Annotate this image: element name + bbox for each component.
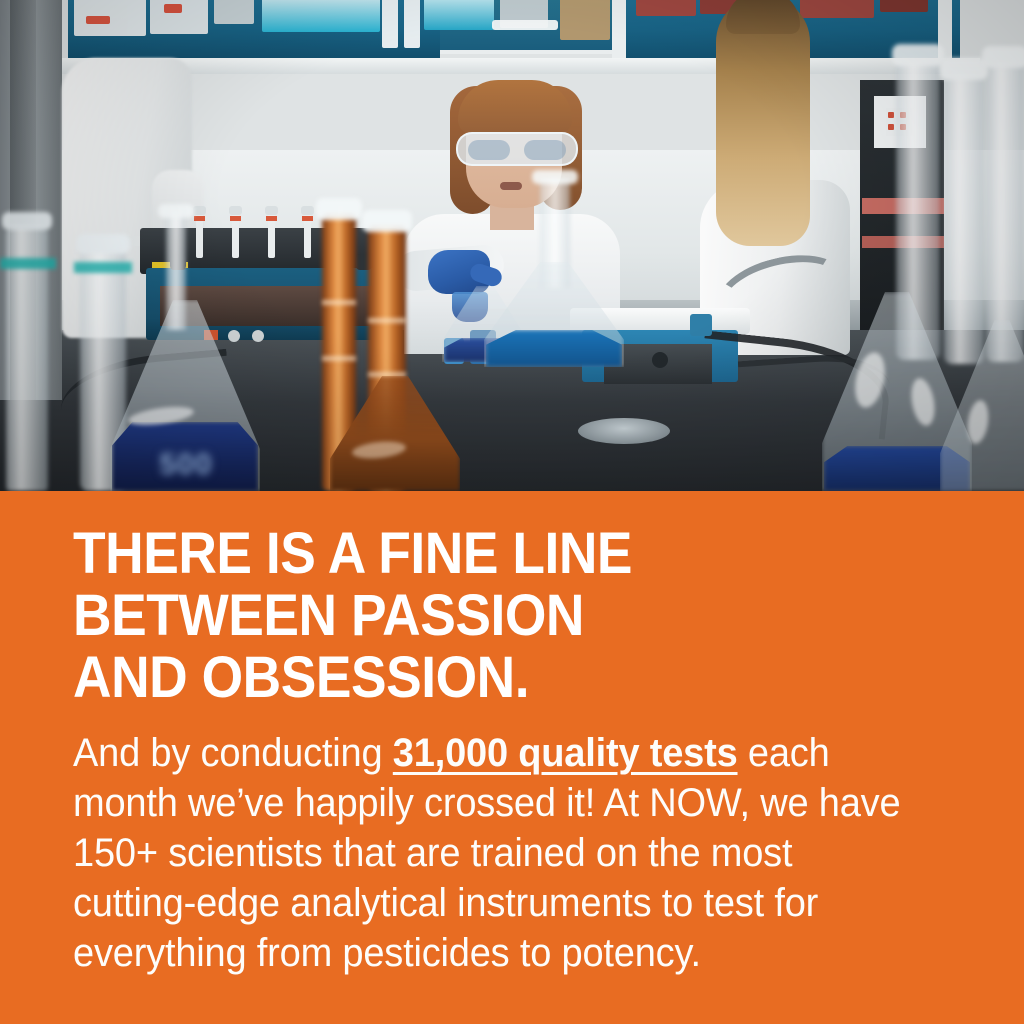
shelf-bottle-1 (382, 0, 398, 48)
amber-cylinder-2-cap (362, 210, 412, 232)
right-cylinder-3 (986, 62, 1024, 362)
promo-poster: 500 THERE IS A FINE LINE (0, 0, 1024, 1024)
cabinet-divider-left (612, 0, 626, 64)
shelf-crate-4 (880, 0, 928, 12)
shelf-crate-1 (636, 0, 696, 16)
scientist-right-hair (716, 0, 810, 246)
petri-dish (578, 418, 670, 444)
pipette-4 (304, 212, 311, 258)
headline-line-1: THERE IS A FINE LINE (73, 523, 901, 585)
scientist-center-mouth (500, 182, 522, 190)
amber-cylinder-1-cap (316, 198, 362, 220)
graduated-cylinder-1-band (0, 258, 56, 269)
body-copy-part-1: And by conducting (73, 731, 393, 775)
headline-line-2: BETWEEN PASSION (73, 585, 901, 647)
graduated-cylinder-2-cap (76, 234, 130, 254)
shelf-plate (492, 20, 558, 30)
instrument-knob-2 (252, 330, 264, 342)
body-copy-highlight: 31,000 quality tests (393, 731, 738, 775)
balance-knob (652, 352, 668, 368)
graduated-cylinder-2-band (74, 262, 132, 273)
right-cylinder-2-cap (940, 58, 988, 80)
right-cylinder-3-cap (982, 46, 1024, 68)
reagent-bottle-3 (690, 314, 712, 336)
erlenmeyer-liquid-blue (486, 330, 622, 367)
shelf-cardboard-box (560, 0, 610, 40)
safety-goggles-icon (456, 132, 578, 166)
erlenmeyer-lip (532, 170, 578, 184)
pipette-2 (232, 212, 239, 258)
scientist-center-hair-top (458, 80, 572, 134)
lab-photo: 500 (0, 0, 1024, 491)
shelf-box-1 (74, 0, 146, 36)
instrument-knob-1 (228, 330, 240, 342)
amber-graduation-1 (322, 300, 356, 305)
flask-500-lip (158, 204, 194, 218)
body-copy: And by conducting 31,000 quality tests e… (73, 728, 909, 978)
shelf-crate-3 (800, 0, 874, 18)
shelf-box-2 (150, 0, 208, 34)
scientist-right-hair-top (726, 0, 800, 34)
outlet-indicator-1 (888, 112, 894, 118)
shelf-reagent-tray (262, 0, 380, 32)
graduated-cylinder-1-cap (2, 212, 52, 230)
outlet-indicator-3 (888, 124, 894, 130)
amber-graduation-3 (322, 356, 356, 361)
orange-message-panel: THERE IS A FINE LINE BETWEEN PASSION AND… (0, 491, 1024, 1024)
shelf-reagent-tray-2 (424, 0, 494, 30)
pipette-3 (268, 212, 275, 258)
shelf-box-3 (214, 0, 254, 24)
headline: THERE IS A FINE LINE BETWEEN PASSION AND… (73, 523, 901, 709)
shelf-bottle-2 (404, 0, 420, 48)
right-cylinder-1-cap (892, 44, 944, 66)
headline-line-3: AND OBSESSION. (73, 647, 901, 709)
flask-500-volume-label: 500 (148, 448, 224, 482)
cabinet-under-rim (60, 58, 980, 74)
amber-graduation-2 (368, 318, 406, 323)
right-cylinder-2 (944, 74, 984, 364)
pipette-1 (196, 212, 203, 258)
